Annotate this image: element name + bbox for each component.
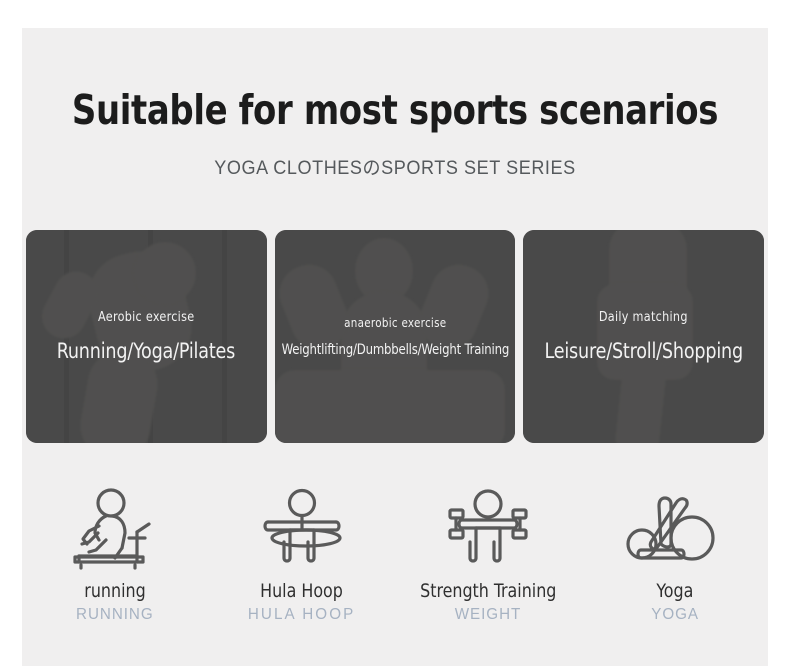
activity-label: Hula Hoop — [260, 580, 343, 602]
card-kicker: Aerobic exercise — [98, 310, 194, 325]
dumbbell-strength-icon — [438, 483, 538, 575]
scenario-card-list: Aerobic exercise Running/Yoga/Pilates an… — [24, 230, 766, 443]
activity-label: Yoga — [656, 580, 693, 602]
card-kicker: anaerobic exercise — [344, 316, 446, 330]
card-main-label: Running/Yoga/Pilates — [57, 339, 235, 363]
yoga-pose-icon — [625, 483, 725, 575]
card-main-label: Weightlifting/Dumbbells/Weight Training — [281, 342, 509, 358]
card-text-daily: Daily matching Leisure/Stroll/Shopping — [523, 230, 764, 443]
activity-item-running[interactable]: running RUNNING — [22, 483, 209, 624]
activity-sublabel: YOGA — [651, 606, 699, 624]
scenario-card-anaerobic[interactable]: anaerobic exercise Weightlifting/Dumbbel… — [275, 230, 516, 443]
activity-item-yoga[interactable]: Yoga YOGA — [582, 483, 769, 624]
activity-sublabel: RUNNING — [76, 606, 154, 624]
card-main-label: Leisure/Stroll/Shopping — [544, 339, 742, 363]
promo-panel: Suitable for most sports scenarios YOGA … — [22, 28, 768, 666]
page-title: Suitable for most sports scenarios — [52, 90, 738, 131]
header: Suitable for most sports scenarios YOGA … — [22, 28, 768, 180]
activity-item-hula-hoop[interactable]: Hula Hoop HULA HOOP — [209, 483, 396, 624]
activity-label: running — [85, 580, 146, 602]
activity-item-strength[interactable]: Strength Training WEIGHT — [395, 483, 582, 624]
activity-icon-row: running RUNNING Hula Hoop HULA HOOP — [22, 483, 768, 624]
card-text-anaerobic: anaerobic exercise Weightlifting/Dumbbel… — [275, 230, 516, 443]
scenario-card-daily[interactable]: Daily matching Leisure/Stroll/Shopping — [523, 230, 764, 443]
page-subtitle: YOGA CLOTHESのSPORTS SET SERIES — [41, 153, 750, 180]
activity-sublabel: WEIGHT — [455, 606, 522, 624]
scenario-card-aerobic[interactable]: Aerobic exercise Running/Yoga/Pilates — [26, 230, 267, 443]
activity-sublabel: HULA HOOP — [248, 606, 356, 624]
card-kicker: Daily matching — [599, 310, 688, 325]
treadmill-running-icon — [65, 483, 165, 575]
hula-hoop-icon — [252, 483, 352, 575]
activity-label: Strength Training — [420, 580, 556, 602]
card-text-aerobic: Aerobic exercise Running/Yoga/Pilates — [26, 230, 267, 443]
